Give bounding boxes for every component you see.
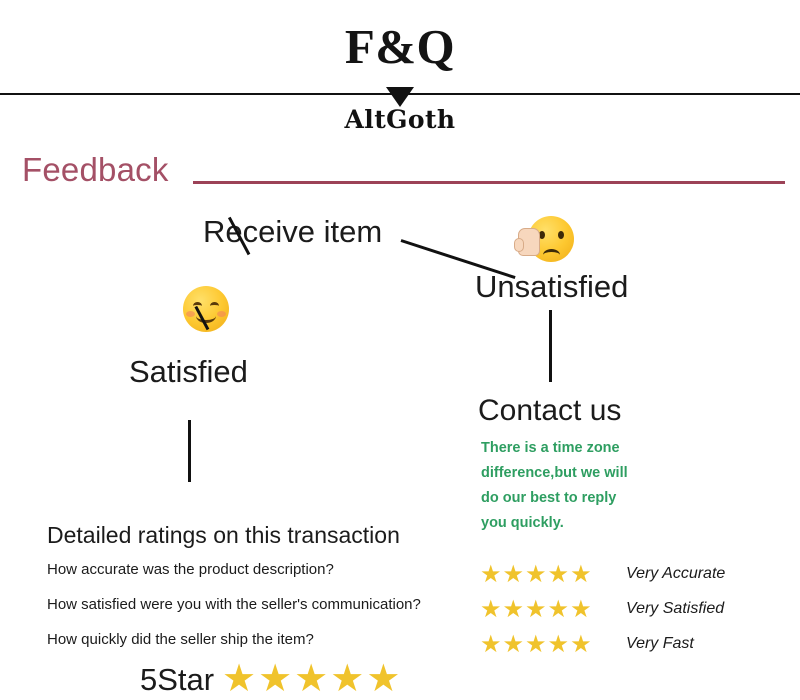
frown-mouth	[543, 249, 560, 261]
star-icon: ★	[570, 632, 592, 656]
cheek-left	[186, 311, 195, 317]
eye-right	[558, 231, 564, 239]
rating-result-row: ★★★★★Very Fast	[480, 626, 725, 661]
feedback-section-title: Feedback	[22, 152, 169, 188]
star-icon: ★	[570, 597, 592, 621]
star-icon: ★	[570, 562, 592, 586]
feedback-flow-diagram: Receive item Satisfied Unsatisfied Conta…	[0, 196, 800, 546]
star-icon: ★	[548, 597, 570, 621]
brand-logo: AltGoth	[0, 106, 800, 134]
rating-question: How satisfied were you with the seller's…	[47, 597, 467, 612]
star-icon: ★	[480, 562, 502, 586]
feedback-title-rule	[193, 181, 785, 184]
contact-us-note: There is a time zonedifference,but we wi…	[481, 436, 656, 536]
star-icon: ★	[480, 632, 502, 656]
contact-note-line: do our best to reply	[481, 486, 656, 511]
star-icon: ★	[503, 597, 525, 621]
raised-hand-icon	[518, 228, 540, 256]
star-icon: ★	[480, 597, 502, 621]
contact-note-line: you quickly.	[481, 511, 656, 536]
flow-node-unsatisfied: Unsatisfied	[475, 271, 628, 302]
star-icon: ★	[525, 562, 547, 586]
star-icon: ★	[525, 597, 547, 621]
detailed-ratings-results: ★★★★★Very Accurate★★★★★Very Satisfied★★★…	[480, 556, 725, 661]
detailed-ratings-heading: Detailed ratings on this transaction	[47, 524, 400, 547]
connector-satisfied-to-fivestar	[188, 420, 191, 482]
star-icon: ★	[503, 632, 525, 656]
star-icon: ★	[548, 562, 570, 586]
rating-result-label: Very Accurate	[626, 565, 725, 583]
triangle-down-icon	[386, 87, 414, 107]
star-icon: ★	[503, 562, 525, 586]
rating-result-label: Very Satisfied	[626, 600, 724, 618]
detailed-ratings-questions: How accurate was the product description…	[47, 562, 467, 667]
rating-question: How accurate was the product description…	[47, 562, 467, 577]
page-header: F&Q AltGoth	[0, 0, 800, 145]
rating-stars: ★★★★★	[480, 562, 622, 586]
rating-question: How quickly did the seller ship the item…	[47, 632, 467, 647]
rating-result-row: ★★★★★Very Satisfied	[480, 591, 725, 626]
rating-result-label: Very Fast	[626, 635, 694, 653]
connector-unsatisfied-to-contact	[549, 310, 552, 382]
rating-stars: ★★★★★	[480, 597, 622, 621]
star-icon: ★	[548, 632, 570, 656]
contact-note-line: difference,but we will	[481, 461, 656, 486]
page-title: F&Q	[0, 22, 800, 71]
flow-node-satisfied: Satisfied	[129, 356, 248, 387]
rating-stars: ★★★★★	[480, 632, 622, 656]
contact-note-line: There is a time zone	[481, 436, 656, 461]
flow-node-contact-us: Contact us	[478, 396, 621, 426]
star-icon: ★	[525, 632, 547, 656]
cheek-right	[217, 311, 226, 317]
rating-result-row: ★★★★★Very Accurate	[480, 556, 725, 591]
